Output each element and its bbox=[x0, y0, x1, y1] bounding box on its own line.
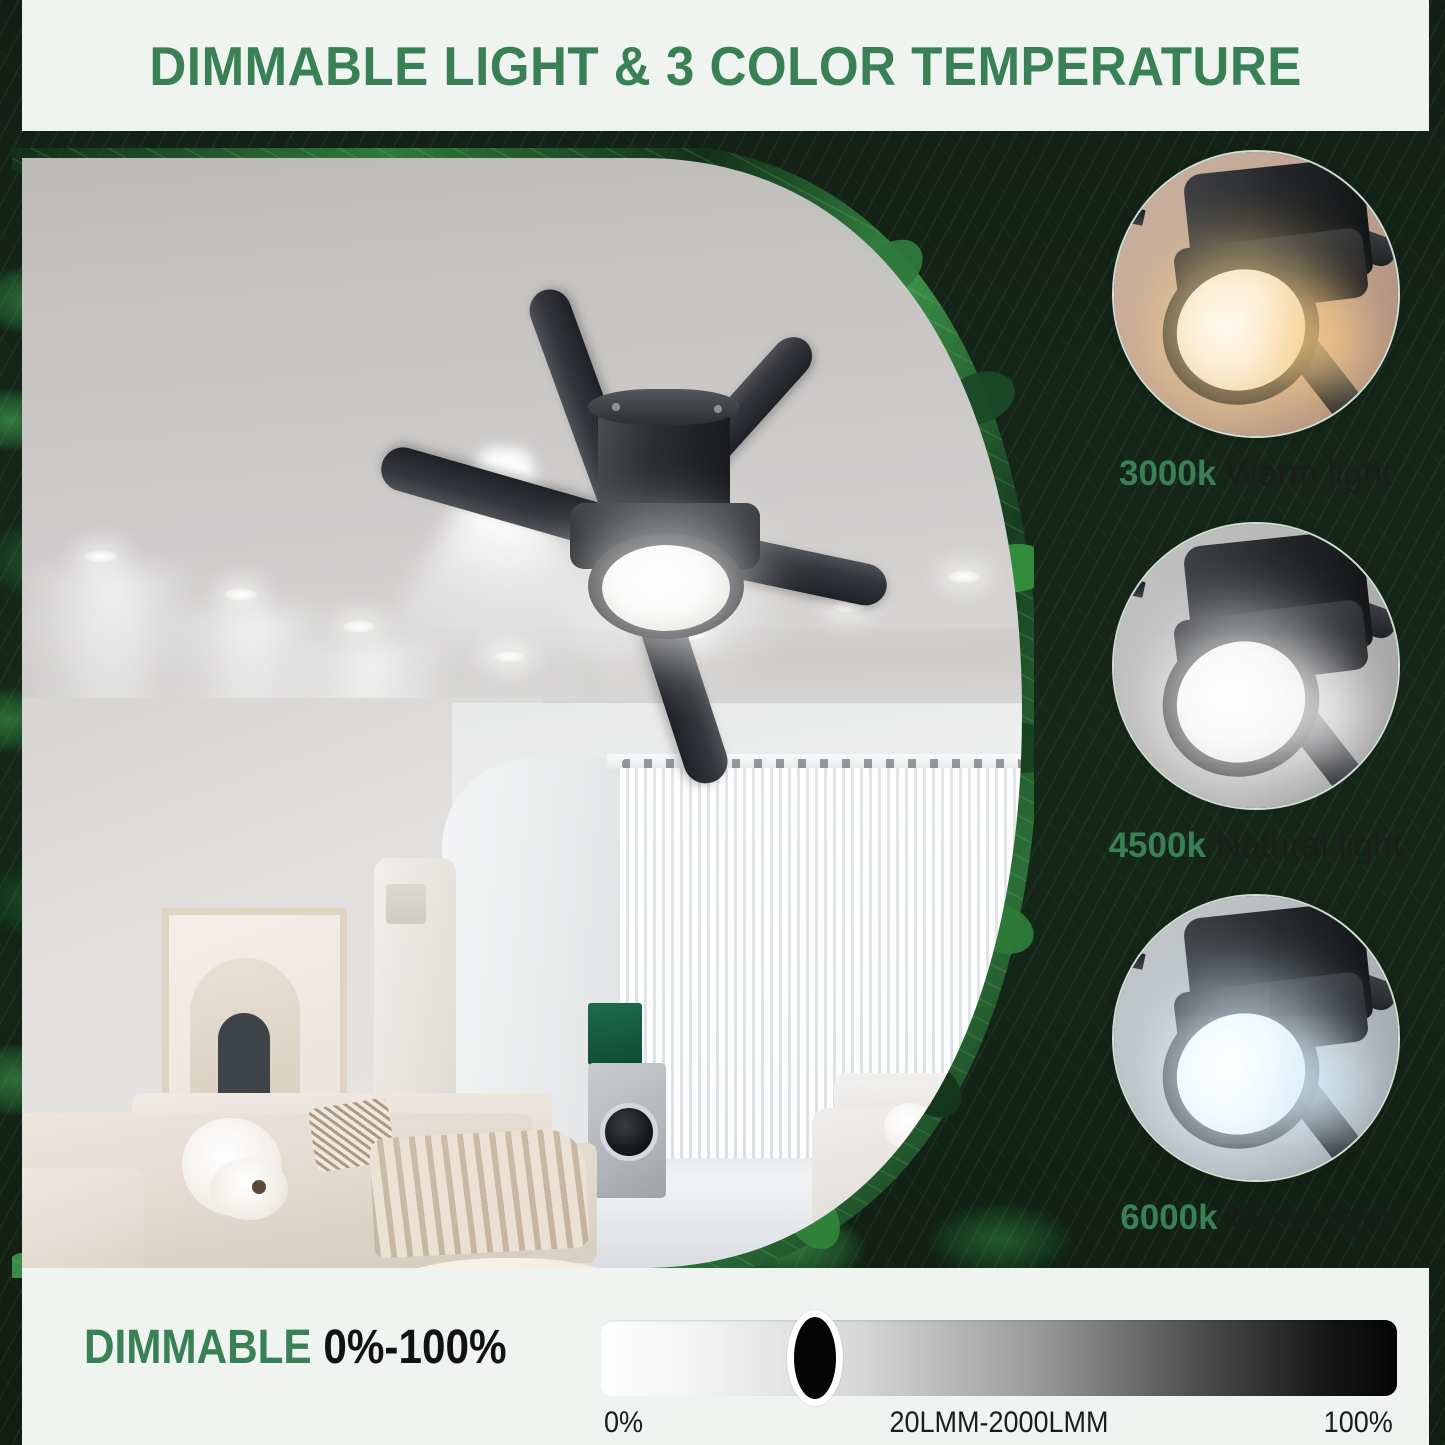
product-infographic: DIMMABLE LIGHT & 3 COLOR TEMPERATURE bbox=[0, 0, 1445, 1445]
page-title: DIMMABLE LIGHT & 3 COLOR TEMPERATURE bbox=[149, 34, 1301, 98]
recessed-downlight bbox=[84, 550, 118, 563]
temperature-option-3000k[interactable]: 3000k Warm light bbox=[1083, 150, 1428, 494]
recessed-downlight bbox=[947, 570, 981, 583]
light-type-label: Natural light bbox=[1216, 826, 1403, 865]
brightness-slider[interactable]: 0% 20LMM-2000LMM 100% bbox=[600, 1320, 1397, 1430]
recessed-downlight bbox=[342, 620, 376, 633]
dimmable-panel: DIMMABLE 0%-100% 0% 20LMM-2000LMM 100% bbox=[22, 1268, 1429, 1445]
washing-machine-door bbox=[600, 1103, 658, 1161]
dimmable-heading: DIMMABLE 0%-100% bbox=[84, 1320, 506, 1375]
canopy-screw bbox=[612, 403, 620, 411]
plush-toy bbox=[210, 1158, 288, 1220]
light-type-label: Warm light bbox=[1226, 454, 1392, 493]
slider-min-label: 0% bbox=[604, 1406, 643, 1440]
canopy-screw bbox=[714, 405, 722, 413]
sofa-arm bbox=[22, 1168, 144, 1268]
warm-light-thumbnail[interactable] bbox=[1112, 150, 1400, 438]
knit-throw-blanket bbox=[369, 1127, 590, 1258]
slider-scale: 0% 20LMM-2000LMM 100% bbox=[600, 1406, 1397, 1445]
slider-knob[interactable] bbox=[787, 1310, 843, 1406]
temperature-caption: 4500k Natural light bbox=[1083, 826, 1428, 866]
temperature-option-4500k[interactable]: 4500k Natural light bbox=[1083, 522, 1428, 866]
header-banner: DIMMABLE LIGHT & 3 COLOR TEMPERATURE bbox=[22, 0, 1429, 131]
temperature-caption: 6000k White light bbox=[1083, 1198, 1428, 1238]
temperature-caption: 3000k Warm light bbox=[1083, 454, 1428, 494]
led-light-lens bbox=[602, 545, 730, 631]
natural-light-thumbnail[interactable] bbox=[1112, 522, 1400, 810]
recessed-downlight bbox=[224, 588, 258, 601]
kelvin-value: 6000k bbox=[1120, 1198, 1217, 1237]
light-glow bbox=[1244, 272, 1394, 412]
temperature-option-6000k[interactable]: 6000k White light bbox=[1083, 894, 1428, 1238]
hero-room-photo bbox=[22, 158, 1022, 1268]
light-glow bbox=[1244, 644, 1394, 784]
slider-max-label: 100% bbox=[1324, 1406, 1393, 1440]
color-temperature-list: 3000k Warm light 4500k Natural light bbox=[1083, 150, 1428, 1266]
light-type-label: White light bbox=[1227, 1198, 1390, 1237]
light-glow bbox=[1244, 1016, 1394, 1156]
dimmable-range: 0%-100% bbox=[323, 1321, 506, 1374]
ceiling-fan bbox=[402, 373, 902, 683]
slider-track[interactable] bbox=[600, 1320, 1397, 1396]
slider-mid-label: 20LMM-2000LMM bbox=[889, 1406, 1108, 1440]
white-light-thumbnail[interactable] bbox=[1112, 894, 1400, 1182]
kelvin-value: 4500k bbox=[1109, 826, 1206, 865]
ac-control-panel bbox=[386, 884, 426, 924]
dimmable-word: DIMMABLE bbox=[84, 1321, 312, 1374]
laundry-shelf-items bbox=[588, 1003, 642, 1065]
kelvin-value: 3000k bbox=[1119, 454, 1216, 493]
plush-toy-face bbox=[252, 1180, 266, 1194]
